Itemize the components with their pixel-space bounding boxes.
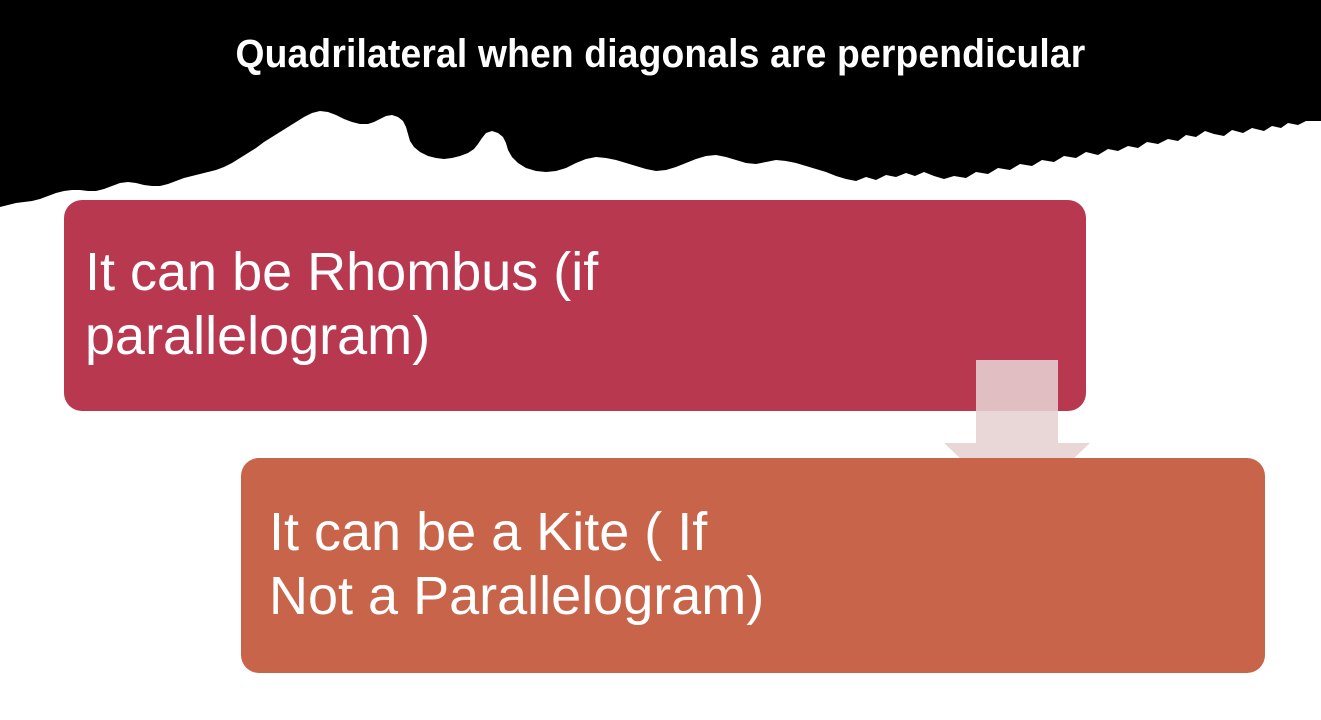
callout-text-rhombus: It can be Rhombus (if parallelogram) [85, 241, 598, 368]
callout-box-rhombus[interactable]: It can be Rhombus (if parallelogram) [64, 200, 1086, 411]
page-title: Quadrilateral when diagonals are perpend… [46, 32, 1275, 76]
slide-canvas: Quadrilateral when diagonals are perpend… [0, 0, 1321, 720]
header-band: Quadrilateral when diagonals are perpend… [0, 0, 1321, 215]
callout-box-kite[interactable]: It can be a Kite ( If Not a Parallelogra… [241, 458, 1265, 673]
callout-text-kite: It can be a Kite ( If Not a Parallelogra… [269, 501, 764, 628]
